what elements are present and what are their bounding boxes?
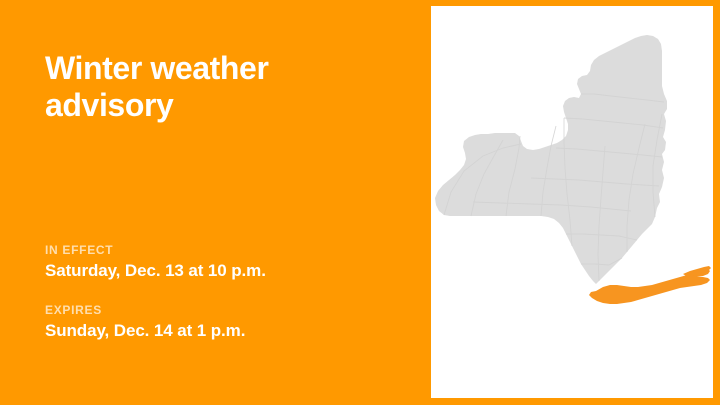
state-base-shape — [435, 35, 667, 284]
weather-alert-card: Winter weather advisory IN EFFECT Saturd… — [0, 0, 720, 405]
expires-value: Sunday, Dec. 14 at 1 p.m. — [45, 320, 405, 341]
advisory-title: Winter weather advisory — [45, 50, 385, 124]
advisory-info-panel: Winter weather advisory IN EFFECT Saturd… — [0, 0, 431, 405]
map-panel — [431, 0, 720, 405]
new-york-state-map — [431, 6, 713, 398]
expires-block: EXPIRES Sunday, Dec. 14 at 1 p.m. — [45, 303, 405, 341]
expires-label: EXPIRES — [45, 303, 405, 318]
in-effect-label: IN EFFECT — [45, 243, 405, 258]
map-surface — [431, 6, 713, 398]
in-effect-block: IN EFFECT Saturday, Dec. 13 at 10 p.m. — [45, 243, 405, 281]
in-effect-value: Saturday, Dec. 13 at 10 p.m. — [45, 260, 405, 281]
new-york-state-outline — [435, 35, 667, 284]
advisory-timing: IN EFFECT Saturday, Dec. 13 at 10 p.m. E… — [45, 243, 405, 341]
